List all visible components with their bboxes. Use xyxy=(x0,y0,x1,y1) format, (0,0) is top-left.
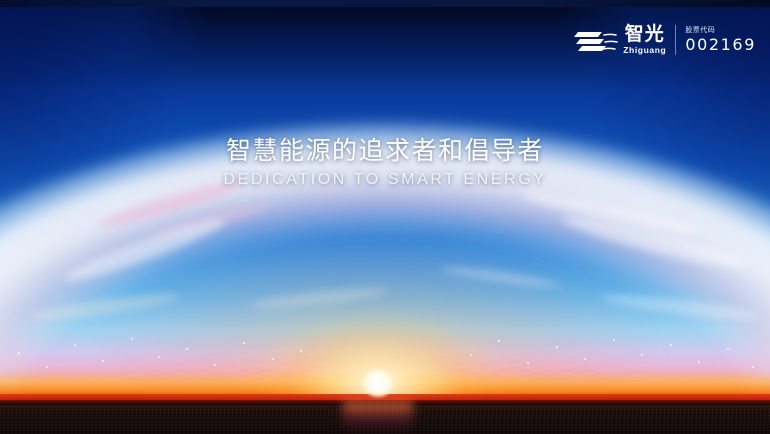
logo-divider xyxy=(675,25,676,55)
brand-wordmark: 智光 Zhiguang xyxy=(623,25,666,55)
tagline-english: DEDICATION TO SMART ENERGY xyxy=(0,171,770,189)
top-letterbox-bar xyxy=(0,0,770,7)
brand-name-cn: 智光 xyxy=(625,25,665,44)
stock-code-label: 股票代码 xyxy=(685,27,756,34)
stock-code-value: 002169 xyxy=(685,37,756,53)
stock-code-block: 股票代码 002169 xyxy=(685,27,756,53)
hero-tagline: 智慧能源的追求者和倡导者 DEDICATION TO SMART ENERGY xyxy=(0,137,770,188)
brand-logo[interactable]: 智光 Zhiguang xyxy=(574,25,666,55)
tagline-chinese: 智慧能源的追求者和倡导者 xyxy=(0,137,770,166)
brand-logo-block[interactable]: 智光 Zhiguang 股票代码 002169 xyxy=(574,20,756,60)
sun-reflection xyxy=(343,400,413,434)
brand-name-en: Zhiguang xyxy=(623,46,666,55)
zhiguang-logo-icon xyxy=(574,29,618,55)
hero-banner: 智光 Zhiguang 股票代码 002169 智慧能源的追求者和倡导者 DED… xyxy=(0,0,770,434)
sun-disc xyxy=(363,369,393,397)
